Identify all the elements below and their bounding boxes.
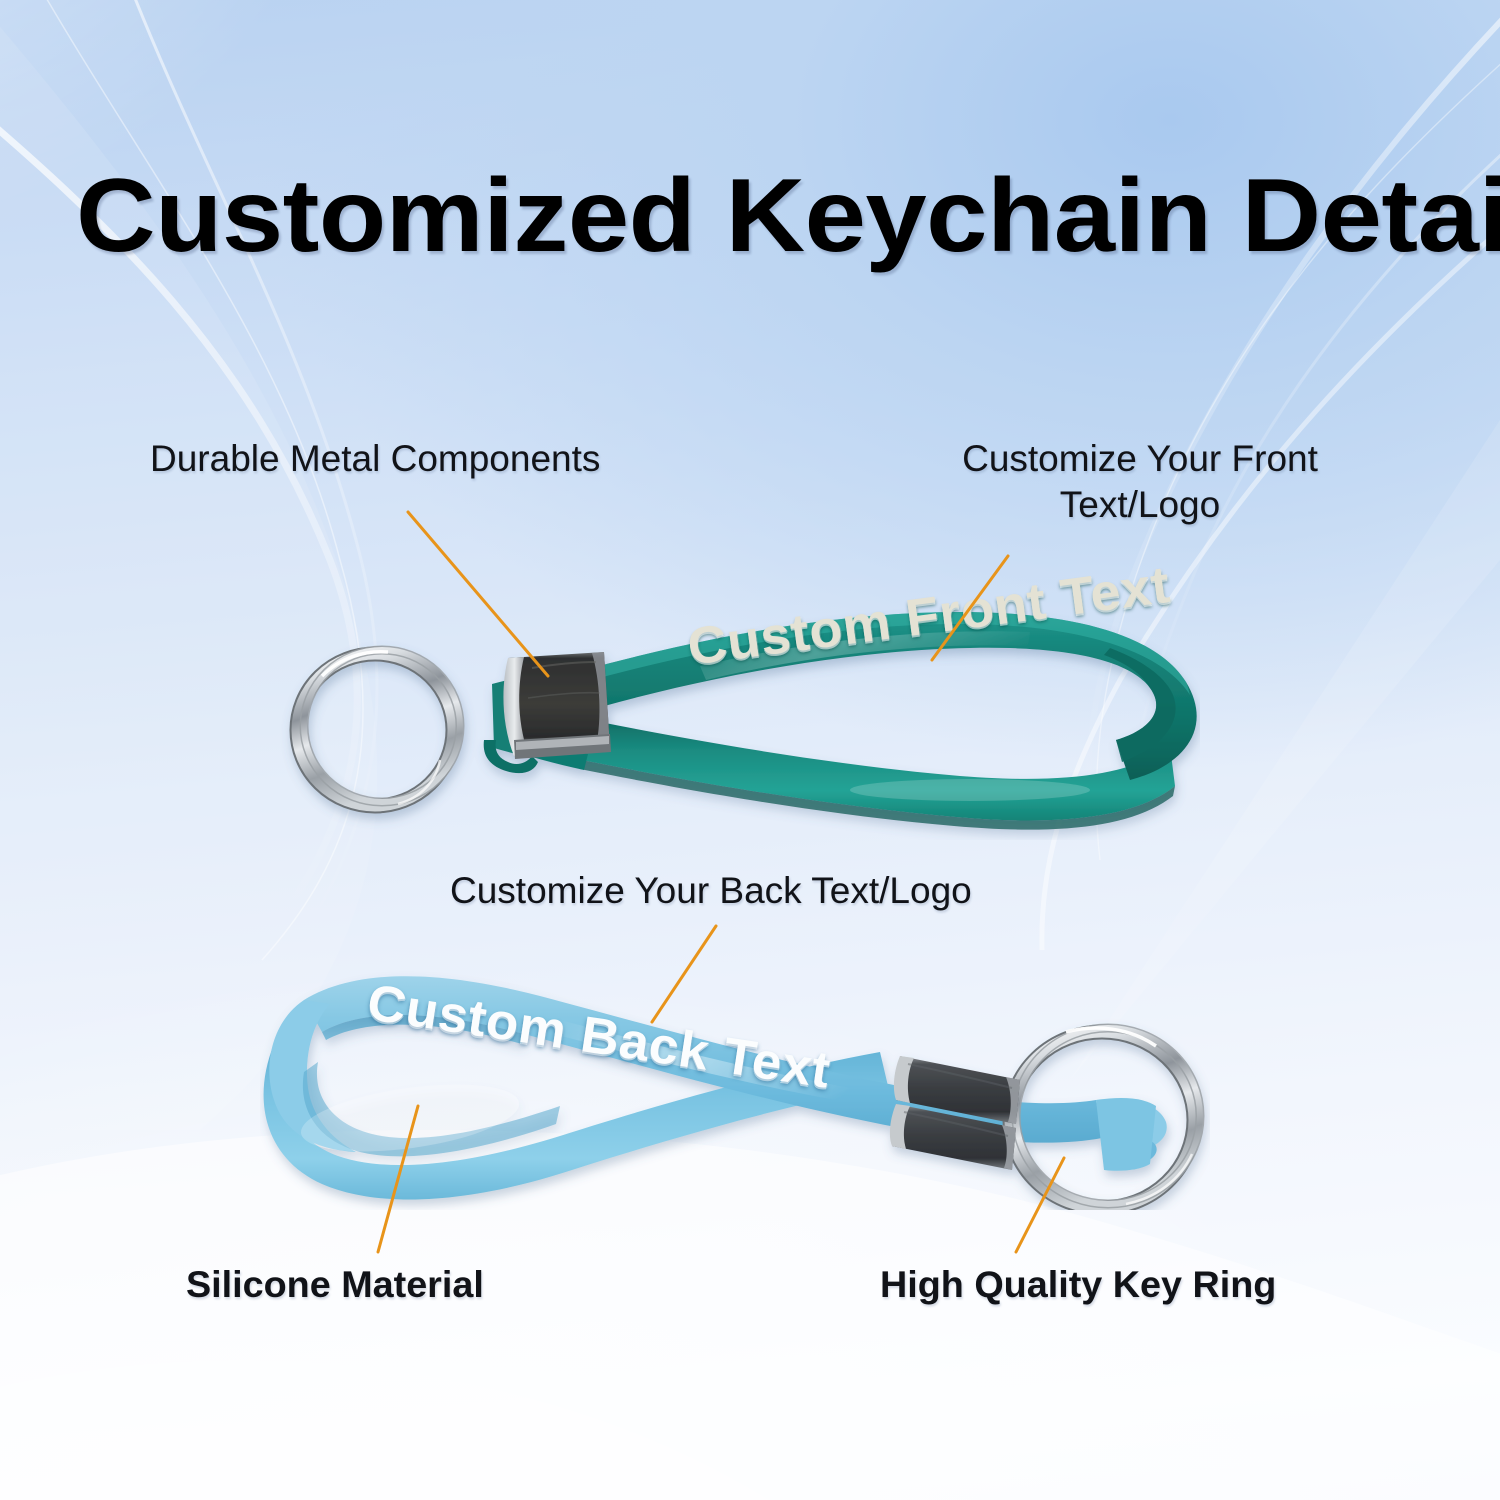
- callout-label-ring: High Quality Key Ring: [880, 1262, 1410, 1308]
- page-title: Customized Keychain Detail: [76, 163, 1500, 269]
- product-keychain-teal: Custom Front Text: [270, 590, 1200, 840]
- teal-split-ring: [297, 650, 460, 806]
- metal-clasp-teal: [503, 652, 611, 759]
- blue-band-right-wrap: [1096, 1098, 1156, 1171]
- teal-band-lower-gloss: [850, 779, 1090, 801]
- callout-label-metal: Durable Metal Components: [150, 436, 770, 482]
- keychain-blue-illustration: [260, 940, 1210, 1210]
- callout-label-back: Customize Your Back Text/Logo: [450, 868, 1180, 914]
- teal-band-lower-strap: [582, 720, 1175, 820]
- infographic-canvas: Customized Keychain Detail: [0, 0, 1500, 1500]
- product-keychain-blue: Custom Back Text: [260, 940, 1210, 1210]
- keychain-teal-illustration: [270, 590, 1200, 840]
- callout-label-silicone: Silicone Material: [186, 1262, 614, 1308]
- callout-label-front: Customize Your Front Text/Logo: [880, 436, 1400, 528]
